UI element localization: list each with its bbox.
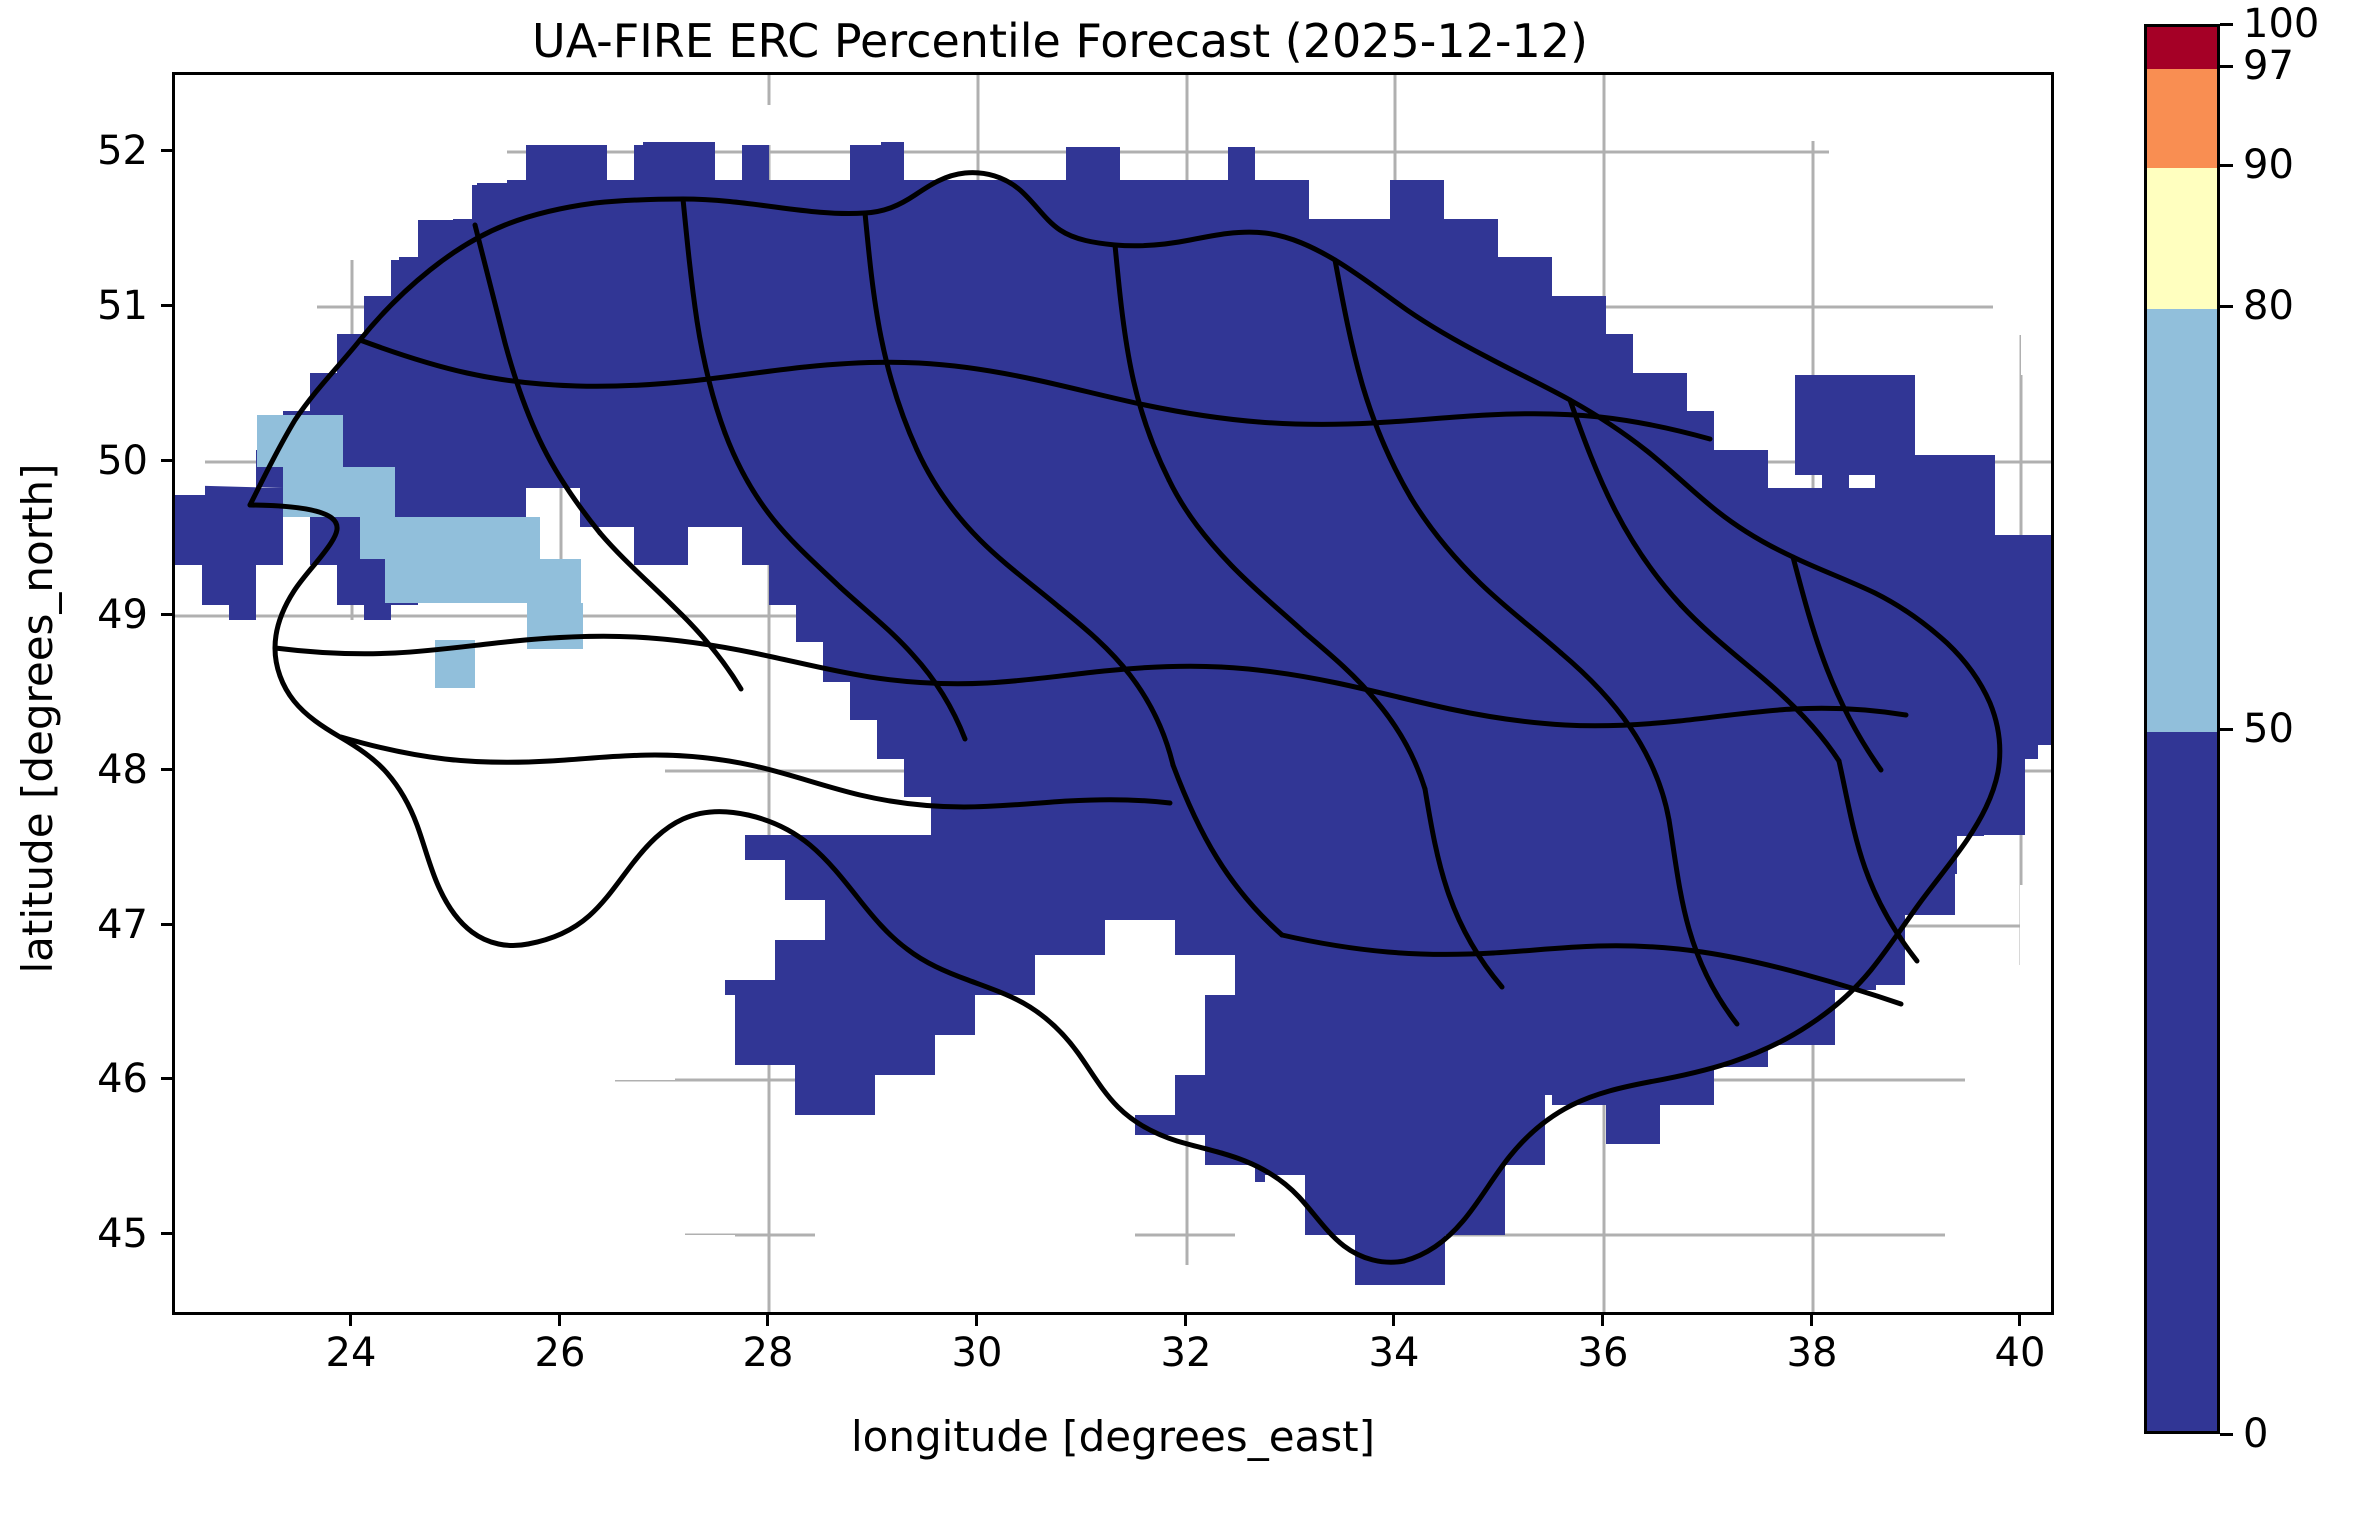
ytick-5 — [161, 459, 172, 462]
xtick-label-32: 32 — [1161, 1330, 1212, 1376]
ytick-1 — [161, 1077, 172, 1080]
colorbar-tick-97 — [2220, 65, 2233, 68]
colorbar-tick-80 — [2220, 305, 2233, 308]
ytick-label-50: 50 — [97, 438, 148, 484]
colorbar-label-50: 50 — [2243, 706, 2294, 752]
xtick-1 — [558, 1315, 561, 1326]
xtick-4 — [1184, 1315, 1187, 1326]
ytick-7 — [161, 149, 172, 152]
choropleth-map — [175, 75, 2051, 1312]
xtick-label-36: 36 — [1578, 1330, 1629, 1376]
colorbar-segment-97-100 — [2147, 27, 2217, 69]
xtick-label-30: 30 — [952, 1330, 1003, 1376]
ytick-label-46: 46 — [97, 1056, 148, 1102]
xtick-label-24: 24 — [326, 1330, 377, 1376]
xtick-label-28: 28 — [743, 1330, 794, 1376]
xtick-8 — [2018, 1315, 2021, 1326]
xtick-3 — [975, 1315, 978, 1326]
colorbar-tick-0 — [2220, 1433, 2233, 1436]
ytick-6 — [161, 304, 172, 307]
xtick-label-38: 38 — [1787, 1330, 1838, 1376]
xtick-label-40: 40 — [1995, 1330, 2046, 1376]
colorbar-tick-50 — [2220, 728, 2233, 731]
figure-canvas: UA-FIRE ERC Percentile Forecast (2025-12… — [0, 0, 2354, 1517]
ytick-2 — [161, 923, 172, 926]
colorbar-label-0: 0 — [2243, 1411, 2268, 1457]
page-title: UA-FIRE ERC Percentile Forecast (2025-12… — [0, 14, 2120, 68]
ytick-label-49: 49 — [97, 592, 148, 638]
xtick-5 — [1392, 1315, 1395, 1326]
xtick-7 — [1810, 1315, 1813, 1326]
colorbar-tick-90 — [2220, 164, 2233, 167]
colorbar-label-100: 100 — [2243, 1, 2319, 47]
ytick-0 — [161, 1232, 172, 1235]
ytick-label-52: 52 — [97, 128, 148, 174]
ukraine-raster — [175, 75, 2051, 1312]
colorbar-label-97: 97 — [2243, 43, 2294, 89]
ytick-4 — [161, 613, 172, 616]
xtick-0 — [349, 1315, 352, 1326]
colorbar-segment-80-90 — [2147, 168, 2217, 309]
xtick-2 — [766, 1315, 769, 1326]
y-axis-label: latitude [degrees_north] — [13, 97, 62, 1340]
map-plot-area[interactable] — [175, 75, 2051, 1312]
xtick-label-26: 26 — [535, 1330, 586, 1376]
ytick-label-51: 51 — [97, 283, 148, 329]
x-axis-label: longitude [degrees_east] — [172, 1412, 2054, 1461]
colorbar-tick-100 — [2220, 23, 2233, 26]
xtick-label-34: 34 — [1369, 1330, 1420, 1376]
colorbar-label-90: 90 — [2243, 142, 2294, 188]
colorbar[interactable] — [2144, 24, 2220, 1434]
ytick-3 — [161, 768, 172, 771]
colorbar-segment-0-50 — [2147, 732, 2217, 1434]
colorbar-segment-90-97 — [2147, 69, 2217, 168]
ytick-label-45: 45 — [97, 1211, 148, 1257]
ytick-label-48: 48 — [97, 747, 148, 793]
xtick-6 — [1601, 1315, 1604, 1326]
ytick-label-47: 47 — [97, 902, 148, 948]
map-axes[interactable] — [172, 72, 2054, 1315]
colorbar-label-80: 80 — [2243, 283, 2294, 329]
colorbar-segment-50-80 — [2147, 309, 2217, 732]
